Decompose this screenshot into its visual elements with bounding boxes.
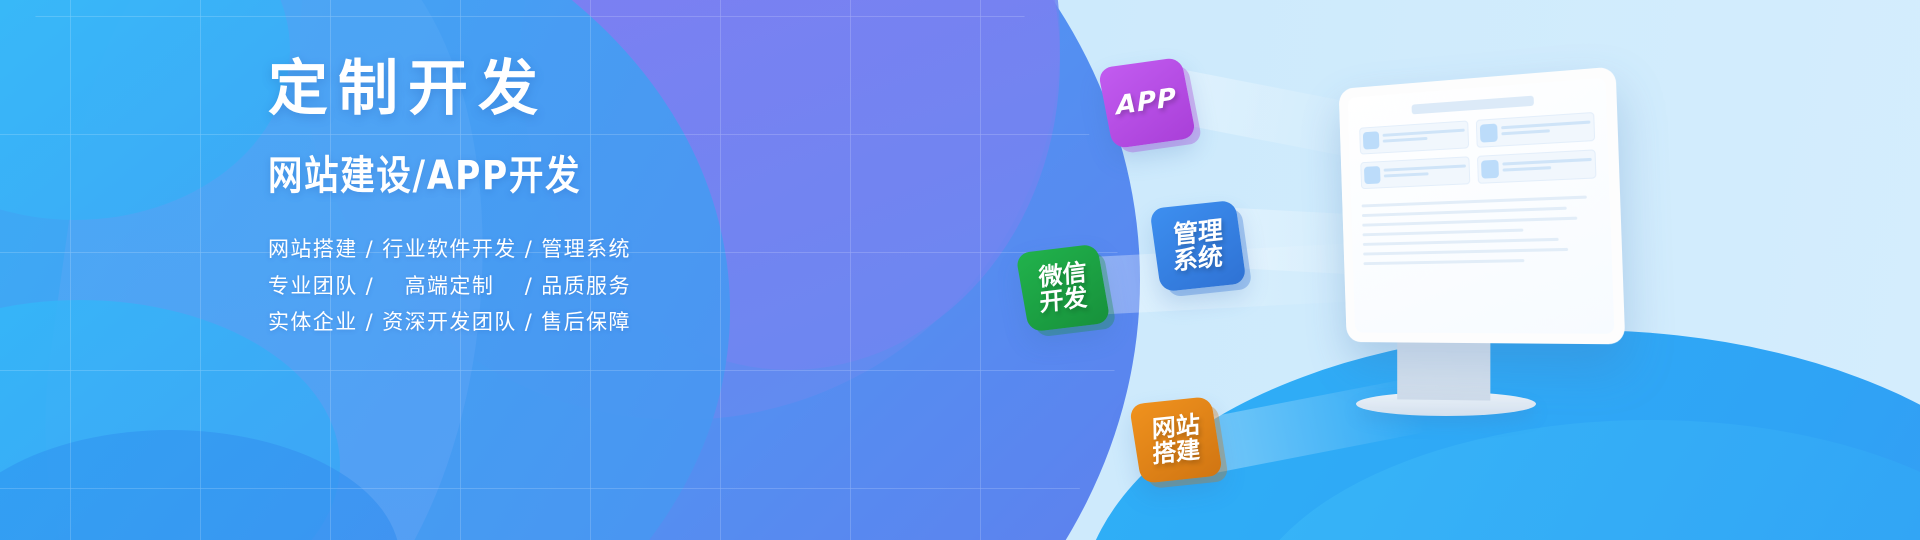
screen-text-line <box>1363 259 1524 265</box>
screen-card-icon <box>1480 123 1498 142</box>
screen-card <box>1359 120 1469 154</box>
screen-text-line <box>1363 248 1568 256</box>
promo-banner: 定制开发 网站建设/APP开发 网站搭建 / 行业软件开发 / 管理系统 专业团… <box>0 0 1920 540</box>
monitor-frame <box>1339 66 1626 344</box>
screen-card-icon <box>1481 160 1499 179</box>
service-card-app[interactable]: APP <box>1098 57 1197 149</box>
screen-card <box>1476 112 1595 148</box>
service-card-wechat[interactable]: 微信 开发 <box>1015 244 1110 333</box>
monitor-screen <box>1348 78 1615 334</box>
screen-text-line <box>1362 207 1567 217</box>
screen-text-line <box>1363 238 1558 246</box>
screen-card-row-1 <box>1359 112 1595 155</box>
screen-card-text <box>1502 158 1592 175</box>
screen-card-icon <box>1363 131 1380 149</box>
service-card-wechat-label: 微信 开发 <box>1038 260 1087 316</box>
screen-card-text <box>1501 121 1591 139</box>
screen-card-text <box>1384 164 1467 180</box>
screen-header-bar <box>1412 96 1534 115</box>
service-card-group: APP 管理 系统 微信 开发 网站 搭建 <box>0 0 1920 540</box>
screen-text-line <box>1362 217 1577 227</box>
service-card-website[interactable]: 网站 搭建 <box>1129 396 1223 484</box>
screen-text-line <box>1363 229 1524 237</box>
screen-card-row-2 <box>1360 149 1596 189</box>
screen-card-text <box>1383 129 1465 146</box>
screen-card-icon <box>1364 166 1381 184</box>
service-card-app-label: APP <box>1116 85 1178 121</box>
service-card-manage-label: 管理 系统 <box>1173 217 1223 275</box>
service-card-website-label: 网站 搭建 <box>1152 412 1201 468</box>
service-card-manage[interactable]: 管理 系统 <box>1149 200 1246 292</box>
screen-card <box>1477 149 1596 184</box>
screen-card <box>1360 156 1470 189</box>
